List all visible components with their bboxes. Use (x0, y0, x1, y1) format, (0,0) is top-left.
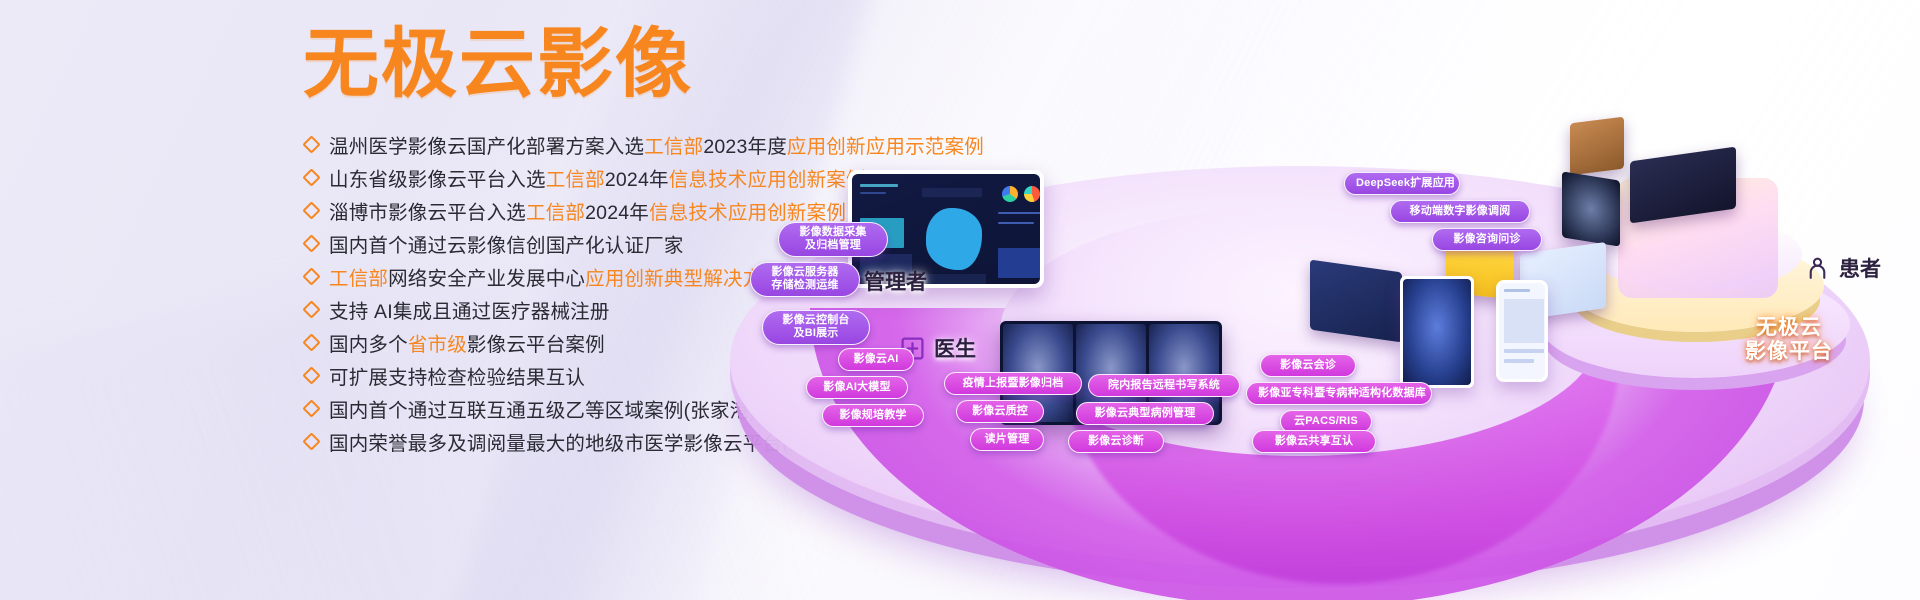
diamond-icon (302, 399, 320, 417)
app-grid-card-icon (1310, 260, 1402, 343)
chip-label-line1: 影像云控制台 (774, 314, 858, 327)
bullet-text-segment: 国内首个通过云影像信创国产化认证厂家 (329, 235, 684, 257)
chip-doctor-1[interactable]: 影像AI大模型 (806, 376, 908, 399)
chip-label-line1: 影像云诊断 (1080, 435, 1152, 448)
chip-label-line1: 读片管理 (982, 433, 1032, 446)
bullet-text-segment: 省市级 (408, 334, 467, 356)
diamond-icon (302, 135, 320, 153)
bullet-text-segment: 工信部 (546, 169, 605, 191)
list-item-label: 支持 AI集成且通过医疗器械注册 (329, 295, 610, 324)
chip-doctor-6[interactable]: 院内报告远程书写系统 (1088, 374, 1240, 397)
bullet-text-segment: 影像云平台案例 (467, 334, 605, 356)
chip-doctor-0[interactable]: 影像云AI (838, 348, 914, 371)
bullet-text-segment: 网络安全产业发展中心 (388, 268, 585, 290)
diamond-icon (302, 300, 320, 318)
chip-admin-2[interactable]: 影像云控制台及BI展示 (762, 310, 870, 345)
chip-label-line1: 影像咨询问诊 (1444, 233, 1530, 246)
bullet-text-segment: 国内多个 (329, 334, 408, 356)
chip-patient-0[interactable]: DeepSeek扩展应用 (1344, 172, 1460, 195)
bullet-text-segment: 国内首个通过互联互通五级乙等区域案例(张家港) (329, 400, 756, 422)
chip-label-line1: 影像云典型病例管理 (1088, 407, 1202, 420)
chip-doctor-9[interactable]: 影像云会诊 (1260, 354, 1356, 377)
chip-label-line2: 及BI展示 (774, 327, 858, 340)
chip-doctor-8[interactable]: 影像云诊断 (1068, 430, 1164, 453)
diamond-icon (302, 234, 320, 252)
chip-admin-1[interactable]: 影像云服务器存储检测运维 (750, 262, 860, 297)
chip-doctor-12[interactable]: 影像云共享互认 (1252, 430, 1376, 453)
bullet-text-segment: 温州医学影像云国产化部署方案入选 (329, 136, 644, 158)
bullet-text-segment: 淄博市影像云平台入选 (329, 202, 526, 224)
chip-label-line1: 影像数据采集 (790, 226, 876, 239)
chip-doctor-2[interactable]: 影像规培教学 (822, 404, 924, 427)
chip-label-line1: 影像云共享互认 (1264, 435, 1364, 448)
chip-label-line2: 存储检测运维 (762, 279, 848, 292)
diamond-icon (302, 333, 320, 351)
list-item-label: 可扩展支持检查检验结果互认 (329, 361, 585, 390)
imaging-card-icon (1570, 117, 1624, 176)
chip-label-line1: 影像云会诊 (1272, 359, 1344, 372)
person-icon (1805, 256, 1830, 281)
chip-label-line1: 疫情上报暨影像归档 (956, 377, 1070, 390)
center-platform-badge: 无极云 影像平台 (1730, 316, 1848, 365)
role-admin-label: 管理者 (864, 266, 927, 296)
chip-patient-1[interactable]: 移动端数字影像调阅 (1390, 200, 1530, 223)
chip-label-line1: DeepSeek扩展应用 (1356, 177, 1448, 190)
bullet-text-segment: 山东省级影像云平台入选 (329, 169, 546, 191)
xray-preview-icon (1400, 276, 1474, 388)
center-badge-line1: 无极云 (1756, 316, 1822, 339)
list-item-label: 国内首个通过互联互通五级乙等区域案例(张家港) (329, 394, 756, 423)
chip-admin-0[interactable]: 影像数据采集及归档管理 (778, 222, 888, 257)
page-title: 无极云影像 (303, 25, 693, 103)
chip-label-line1: 云PACS/RIS (1292, 415, 1360, 428)
chip-label-line1: 影像云质控 (968, 405, 1032, 418)
list-item-label: 国内首个通过云影像信创国产化认证厂家 (329, 229, 684, 258)
diamond-icon (302, 366, 320, 384)
list-item-label: 国内多个省市级影像云平台案例 (329, 328, 605, 357)
role-patient: 患者 (1805, 253, 1881, 283)
chip-label-line1: 院内报告远程书写系统 (1100, 379, 1228, 392)
chip-doctor-5[interactable]: 读片管理 (970, 428, 1044, 451)
bullet-text-segment: 可扩展支持检查检验结果互认 (329, 367, 585, 389)
diamond-icon (302, 201, 320, 219)
chip-label-line2: 及归档管理 (790, 239, 876, 252)
ultrasound-card-icon (1562, 171, 1620, 246)
platform-illustration: 管理者 医生 患者 无极云 影像平台 影像数据采集及归档管理 影像云服务器存储检… (700, 58, 1920, 600)
chip-doctor-4[interactable]: 影像云质控 (956, 400, 1044, 423)
bullet-text-segment: 2024年 (585, 202, 649, 224)
chip-doctor-7[interactable]: 影像云典型病例管理 (1076, 402, 1214, 425)
chip-label-line1: 影像AI大模型 (818, 381, 896, 394)
bullet-text-segment: 2024年 (605, 169, 669, 191)
chip-doctor-3[interactable]: 疫情上报暨影像归档 (944, 372, 1082, 395)
diamond-icon (302, 267, 320, 285)
center-badge-line2: 影像平台 (1730, 340, 1848, 364)
banner-stage: 无极云影像 温州医学影像云国产化部署方案入选工信部2023年度应用创新应用示范案… (0, 0, 1920, 600)
role-patient-label: 患者 (1839, 253, 1881, 283)
chip-doctor-10[interactable]: 影像亚专科暨专病种适构化数据库 (1246, 382, 1432, 405)
bullet-text-segment: 工信部 (644, 136, 703, 158)
diamond-icon (302, 168, 320, 186)
chip-label-line1: 影像亚专科暨专病种适构化数据库 (1258, 387, 1420, 400)
chip-label-line1: 影像云AI (850, 353, 902, 366)
chip-label-line1: 影像云服务器 (762, 266, 848, 279)
bullet-text-segment: 工信部 (526, 202, 585, 224)
bullet-text-segment: 工信部 (329, 268, 388, 290)
chip-label-line1: 影像规培教学 (834, 409, 912, 422)
role-doctor-label: 医生 (934, 333, 976, 363)
bullet-text-segment: 支持 AI集成且通过医疗器械注册 (329, 301, 610, 323)
chip-label-line1: 移动端数字影像调阅 (1402, 205, 1518, 218)
mobile-phone-icon (1496, 280, 1548, 382)
chip-patient-2[interactable]: 影像咨询问诊 (1432, 228, 1542, 251)
diamond-icon (302, 432, 320, 450)
